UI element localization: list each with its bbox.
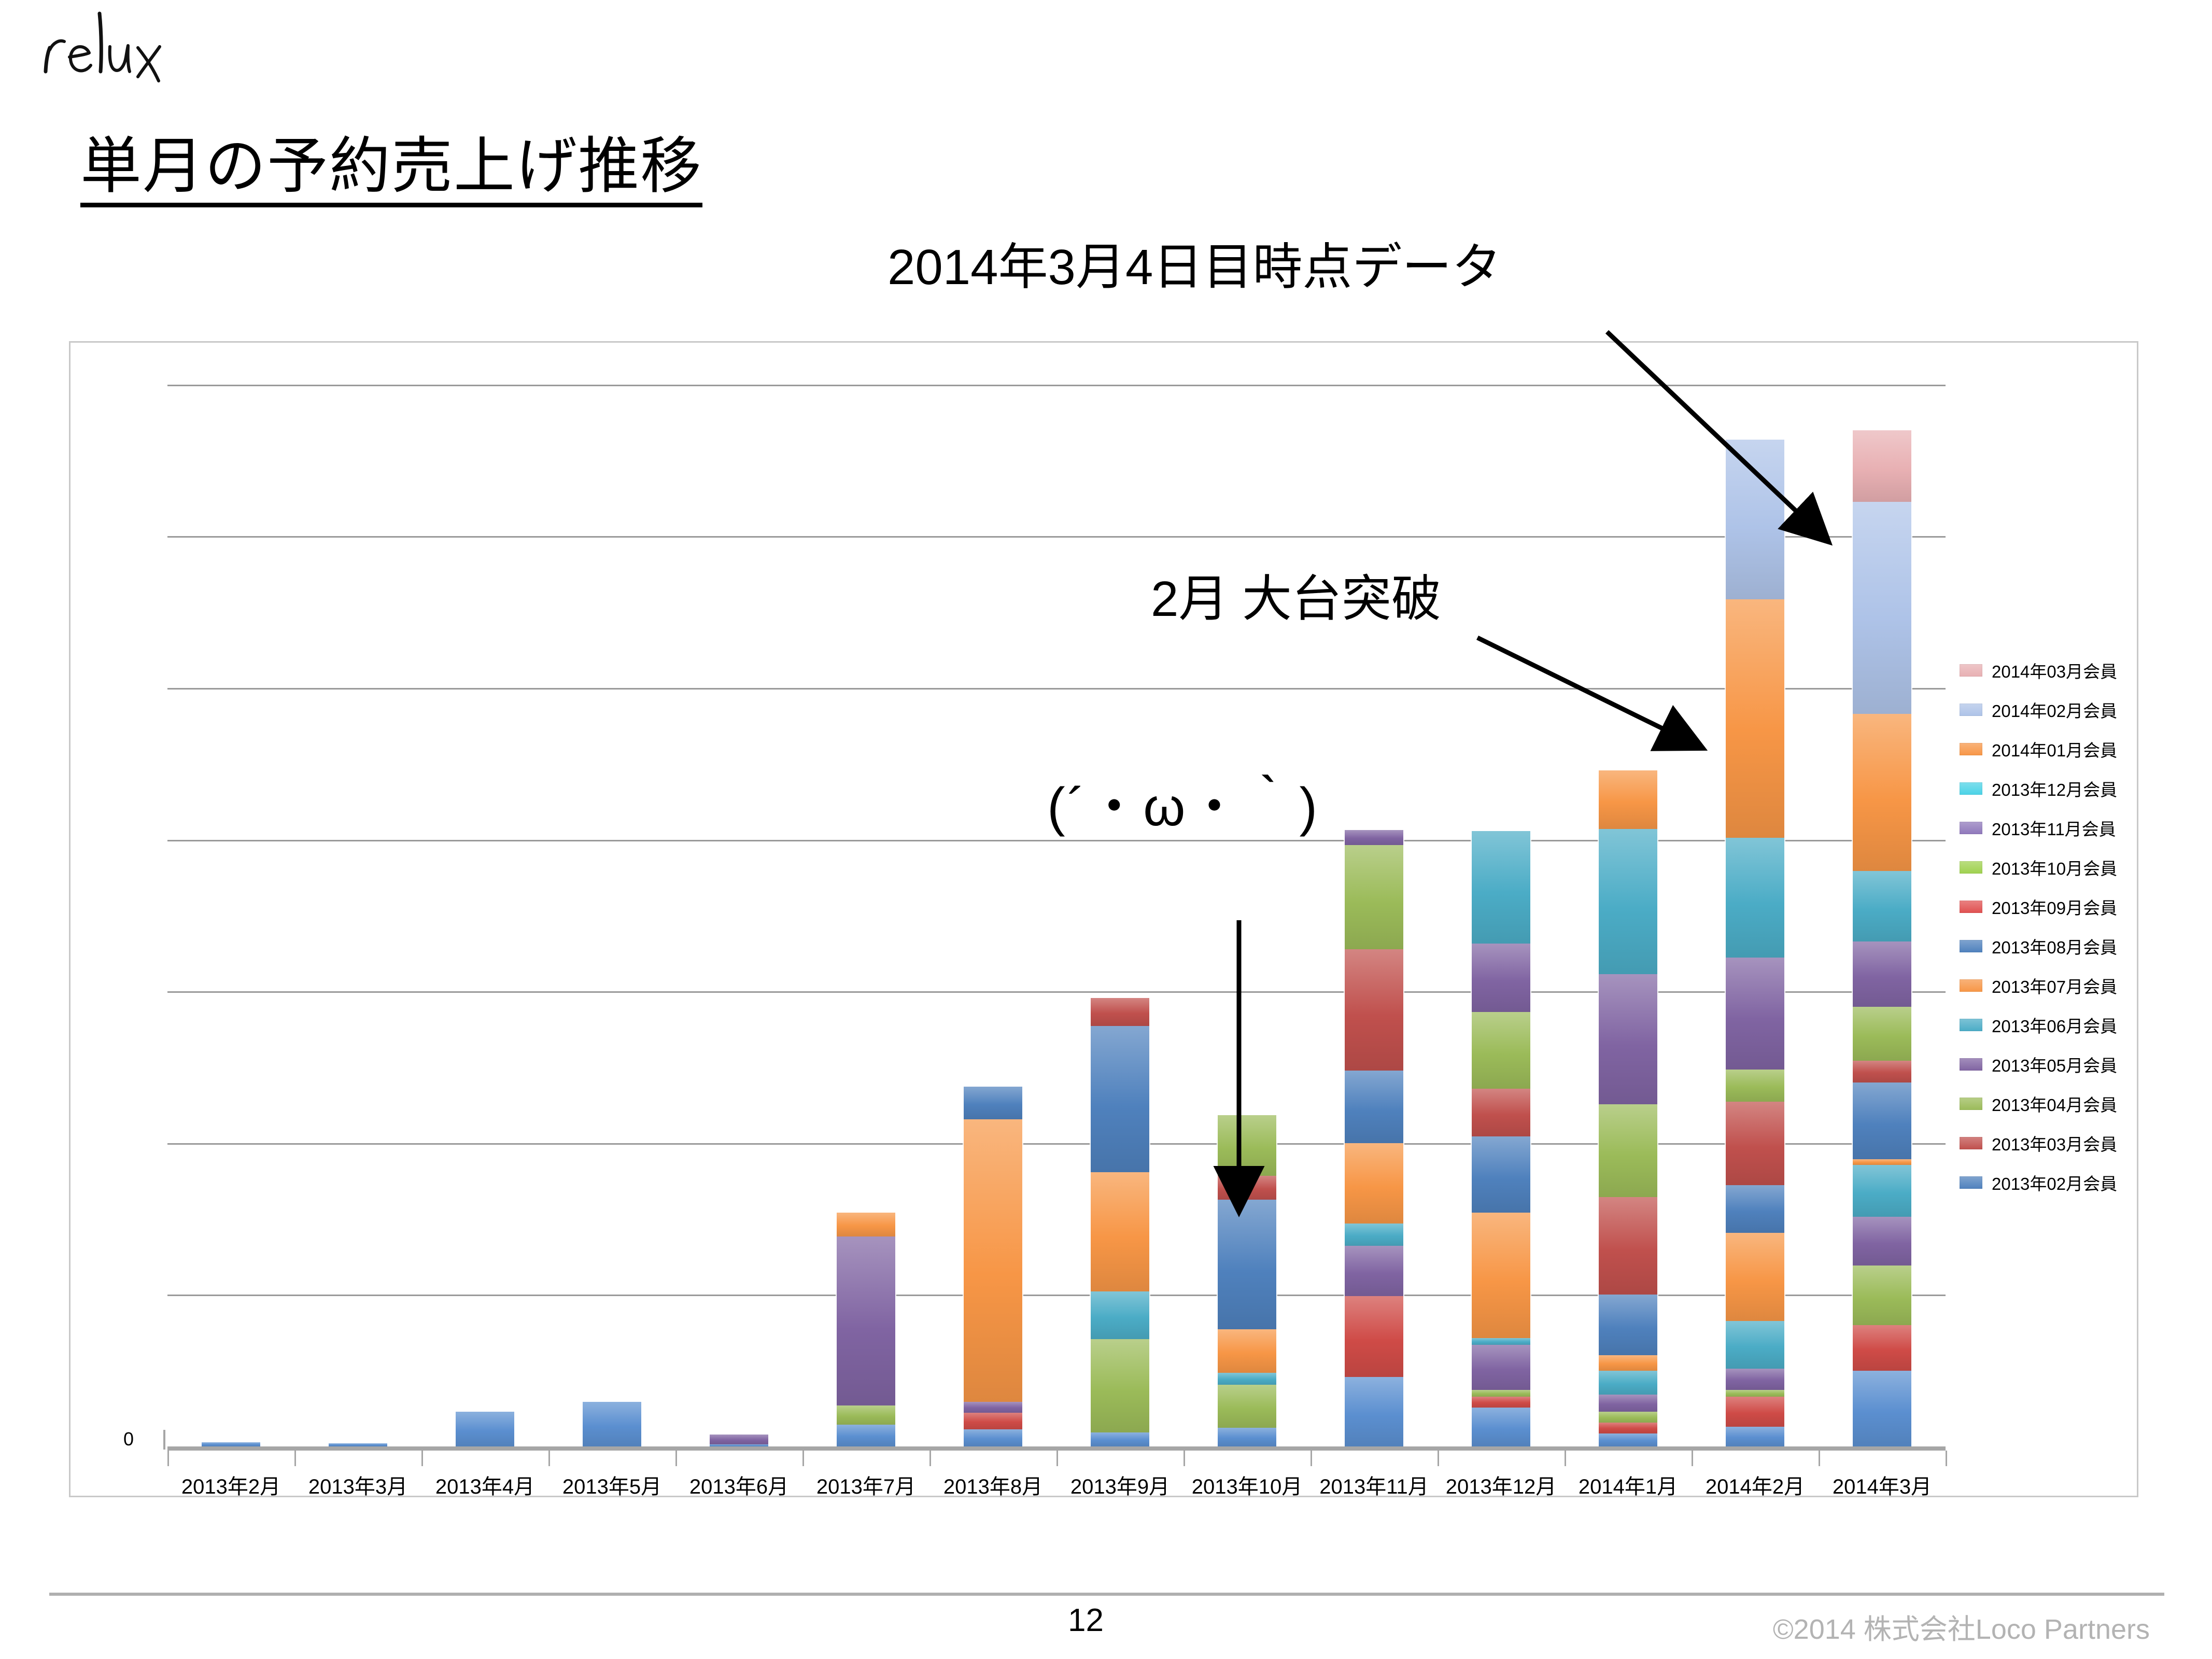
x-axis-tick: [1056, 1451, 1058, 1466]
bar-segment: [1599, 1433, 1657, 1446]
bar-segment: [1599, 1371, 1657, 1395]
legend-item-label: 2013年12月会員: [1992, 776, 2117, 801]
legend-swatch-icon: [1960, 1098, 1982, 1110]
bar-stack: [837, 1213, 895, 1446]
legend-swatch-icon: [1960, 901, 1982, 913]
bar-segment: [1345, 830, 1403, 845]
legend-item-label: 2013年06月会員: [1992, 1013, 2117, 1037]
legend-swatch-icon: [1960, 1176, 1982, 1189]
legend-item-label: 2013年02月会員: [1992, 1170, 2117, 1195]
bar-segment: [1599, 1423, 1657, 1433]
bar-segment: [1726, 838, 1784, 958]
legend-item[interactable]: 2013年04月会員: [1960, 1084, 2131, 1123]
legend-item-label: 2014年03月会員: [1992, 658, 2117, 683]
relux-logo: [36, 5, 244, 91]
legend-swatch-icon: [1960, 1137, 1982, 1149]
x-axis-label: 2014年3月: [1819, 1470, 1946, 1500]
bar-segment: [1599, 1197, 1657, 1295]
x-axis-tick: [1946, 1451, 1947, 1466]
bar-segment: [1472, 1397, 1530, 1408]
bar-segment: [1853, 1007, 1911, 1061]
bar-segment: [1345, 1377, 1403, 1446]
legend-item[interactable]: 2013年03月会員: [1960, 1123, 2131, 1163]
bar-segment: [1345, 1296, 1403, 1377]
x-axis-tick: [1819, 1451, 1820, 1466]
bar-segment: [1853, 1082, 1911, 1159]
bar-stack: [1345, 830, 1403, 1446]
bar-segment: [1726, 1102, 1784, 1185]
bar-segment: [1218, 1385, 1276, 1428]
x-axis-tick: [421, 1451, 423, 1466]
bar-segment: [1472, 1338, 1530, 1345]
bar-segment: [1599, 1412, 1657, 1423]
bar-stack: [964, 1087, 1022, 1446]
annotation-kaomoji: (´・ω・｀): [1047, 780, 1319, 834]
bar-segment: [964, 1402, 1022, 1413]
legend-swatch-icon: [1960, 822, 1982, 834]
bar-segment: [1726, 1321, 1784, 1369]
x-axis-tick: [167, 1451, 169, 1466]
bar-segment: [964, 1087, 1022, 1119]
bar-segment: [1853, 1325, 1911, 1371]
x-axis-label: 2013年4月: [421, 1470, 548, 1500]
bar-segment: [1853, 1217, 1911, 1266]
bar-segment: [837, 1236, 895, 1405]
footer-divider: [49, 1593, 2164, 1596]
bar-segment: [1091, 1432, 1149, 1446]
legend-item[interactable]: 2013年07月会員: [1960, 966, 2131, 1005]
legend-swatch-icon: [1960, 1058, 1982, 1071]
y-axis-label-zero: 0: [123, 1428, 134, 1450]
bar-segment: [1091, 1172, 1149, 1291]
page-number: 12: [1068, 1602, 1104, 1639]
bar-segment: [1218, 1428, 1276, 1446]
x-axis-tick: [548, 1451, 550, 1466]
bar-segment: [1853, 1371, 1911, 1446]
bar-segment: [1472, 1089, 1530, 1136]
legend-swatch-icon: [1960, 743, 1982, 755]
bar-segment: [1853, 1165, 1911, 1217]
bar-segment: [1472, 1390, 1530, 1397]
page-title: 単月の予約売上げ推移: [80, 132, 702, 207]
bar-segment: [1599, 1104, 1657, 1198]
bar-segment: [1599, 1355, 1657, 1370]
bar-segment: [1345, 845, 1403, 949]
bar-segment: [1853, 502, 1911, 714]
legend-item-label: 2014年01月会員: [1992, 737, 2117, 762]
bar-segment: [1726, 599, 1784, 838]
x-axis-label: 2013年12月: [1438, 1470, 1565, 1500]
bar-stack: [583, 1402, 641, 1446]
legend-item[interactable]: 2014年01月会員: [1960, 729, 2131, 769]
bar-stack: [1726, 440, 1784, 1446]
gridline: [167, 536, 1946, 538]
bar-segment: [1218, 1373, 1276, 1385]
bar-segment: [1345, 1224, 1403, 1246]
bar-stack: [1599, 770, 1657, 1446]
x-axis-label: 2013年11月: [1311, 1470, 1438, 1500]
bar-segment: [1218, 1329, 1276, 1373]
legend-item-label: 2013年09月会員: [1992, 894, 2117, 919]
legend-item-label: 2013年11月会員: [1992, 816, 2116, 840]
bar-segment: [837, 1425, 895, 1446]
bar-segment: [1726, 1369, 1784, 1390]
x-axis-label: 2013年10月: [1184, 1470, 1311, 1500]
bar-segment: [1726, 1427, 1784, 1446]
gridline: [167, 385, 1946, 386]
gridline: [167, 991, 1946, 993]
legend-item[interactable]: 2014年03月会員: [1960, 651, 2131, 690]
x-axis-label: 2013年3月: [294, 1470, 421, 1500]
x-axis-label: 2013年7月: [802, 1470, 929, 1500]
bar-segment: [1726, 1397, 1784, 1427]
bar-segment: [1853, 871, 1911, 941]
x-axis-label: 2013年8月: [929, 1470, 1056, 1500]
bar-segment: [1472, 1345, 1530, 1390]
bar-segment: [1853, 714, 1911, 871]
bar-segment: [1599, 974, 1657, 1104]
legend-item[interactable]: 2013年05月会員: [1960, 1045, 2131, 1084]
x-axis-label: 2013年2月: [167, 1470, 294, 1500]
chart-legend: 2014年03月会員2014年02月会員2014年01月会員2013年12月会員…: [1960, 651, 2131, 1202]
y-axis-tick-zero: [163, 1430, 165, 1450]
legend-swatch-icon: [1960, 704, 1982, 716]
x-axis-tick: [802, 1451, 804, 1466]
bar-segment: [1726, 1070, 1784, 1102]
bar-stack: [710, 1435, 768, 1446]
x-axis-tick: [1565, 1451, 1566, 1466]
bar-segment: [1599, 829, 1657, 974]
legend-item[interactable]: 2013年08月会員: [1960, 926, 2131, 966]
gridline: [167, 840, 1946, 841]
legend-item-label: 2013年07月会員: [1992, 973, 2117, 998]
bar-stack: [1218, 1115, 1276, 1446]
bar-segment: [1853, 430, 1911, 502]
x-axis-line: [167, 1446, 1946, 1451]
copyright-notice: ©2014 株式会社Loco Partners: [1773, 1606, 2150, 1647]
bar-segment: [837, 1213, 895, 1236]
bar-segment: [1472, 1012, 1530, 1089]
bar-segment: [1345, 1143, 1403, 1224]
legend-item-label: 2013年03月会員: [1992, 1131, 2117, 1156]
x-axis-label: 2013年6月: [675, 1470, 802, 1500]
bar-segment: [710, 1435, 768, 1444]
bar-segment: [202, 1442, 260, 1446]
bar-segment: [1726, 1185, 1784, 1233]
legend-swatch-icon: [1960, 940, 1982, 952]
bar-stack: [1472, 831, 1530, 1446]
bar-segment: [1091, 1339, 1149, 1432]
legend-swatch-icon: [1960, 979, 1982, 992]
bar-segment: [1472, 1136, 1530, 1212]
bar-segment: [1218, 1176, 1276, 1200]
bar-segment: [1345, 1246, 1403, 1296]
legend-item-label: 2014年02月会員: [1992, 697, 2117, 722]
bar-segment: [1345, 1071, 1403, 1143]
x-axis-tick: [675, 1451, 677, 1466]
legend-item-label: 2013年10月会員: [1992, 855, 2117, 880]
gridline: [167, 688, 1946, 690]
bar-stack: [202, 1442, 260, 1446]
bar-segment: [1726, 440, 1784, 599]
x-axis-tick: [294, 1451, 296, 1466]
bar-segment: [456, 1412, 514, 1446]
legend-item-label: 2013年08月会員: [1992, 934, 2117, 959]
chart-plot-area: 0 2013年2月2013年3月2013年4月2013年5月2013年6月201…: [167, 363, 1946, 1446]
bar-segment: [964, 1413, 1022, 1429]
gridline: [167, 1143, 1946, 1145]
x-axis-tick: [1184, 1451, 1185, 1466]
bar-segment: [1599, 1295, 1657, 1355]
bar-segment: [1853, 941, 1911, 1006]
annotation-date-note: 2014年3月4日目時点データ: [887, 243, 1501, 292]
bar-segment: [1218, 1200, 1276, 1330]
bar-segment: [1599, 1395, 1657, 1412]
x-axis-tick: [1311, 1451, 1312, 1466]
bar-stack: [1091, 998, 1149, 1446]
bar-segment: [583, 1402, 641, 1446]
bar-segment: [1726, 958, 1784, 1069]
bar-segment: [964, 1119, 1022, 1402]
x-axis-label: 2013年5月: [548, 1470, 675, 1500]
x-axis-label: 2014年2月: [1692, 1470, 1819, 1500]
bar-segment: [1726, 1233, 1784, 1320]
legend-swatch-icon: [1960, 1019, 1982, 1031]
legend-swatch-icon: [1960, 861, 1982, 874]
legend-item[interactable]: 2013年06月会員: [1960, 1005, 2131, 1045]
legend-item[interactable]: 2014年02月会員: [1960, 690, 2131, 729]
bar-segment: [1726, 1390, 1784, 1397]
x-axis-tick: [929, 1451, 931, 1466]
bar-segment: [1091, 998, 1149, 1026]
bar-segment: [1599, 770, 1657, 829]
legend-item[interactable]: 2013年10月会員: [1960, 848, 2131, 887]
x-axis-tick: [1692, 1451, 1693, 1466]
bar-stack: [456, 1412, 514, 1446]
bar-segment: [1472, 1213, 1530, 1338]
x-axis-label: 2013年9月: [1056, 1470, 1184, 1500]
bar-segment: [1091, 1291, 1149, 1339]
legend-swatch-icon: [1960, 664, 1982, 677]
x-axis-label: 2014年1月: [1565, 1470, 1692, 1500]
bar-segment: [1472, 1408, 1530, 1446]
bar-segment: [1472, 944, 1530, 1012]
legend-item[interactable]: 2013年02月会員: [1960, 1163, 2131, 1202]
annotation-feb-note: 2月 大台突破: [1151, 574, 1441, 624]
legend-swatch-icon: [1960, 782, 1982, 795]
bar-segment: [1472, 831, 1530, 944]
bar-segment: [1345, 949, 1403, 1071]
bar-stack: [1853, 430, 1911, 1446]
bar-segment: [1853, 1159, 1911, 1164]
legend-item-label: 2013年05月会員: [1992, 1052, 2117, 1077]
bar-segment: [1853, 1266, 1911, 1325]
bar-segment: [1853, 1061, 1911, 1082]
legend-item[interactable]: 2013年11月会員: [1960, 808, 2131, 848]
legend-item-label: 2013年04月会員: [1992, 1091, 2117, 1116]
legend-item[interactable]: 2013年12月会員: [1960, 769, 2131, 808]
legend-item[interactable]: 2013年09月会員: [1960, 887, 2131, 926]
bar-segment: [1091, 1026, 1149, 1172]
bar-segment: [837, 1405, 895, 1425]
gridline: [167, 1295, 1946, 1296]
bar-segment: [964, 1429, 1022, 1446]
x-axis-tick: [1438, 1451, 1439, 1466]
bar-segment: [1218, 1115, 1276, 1176]
